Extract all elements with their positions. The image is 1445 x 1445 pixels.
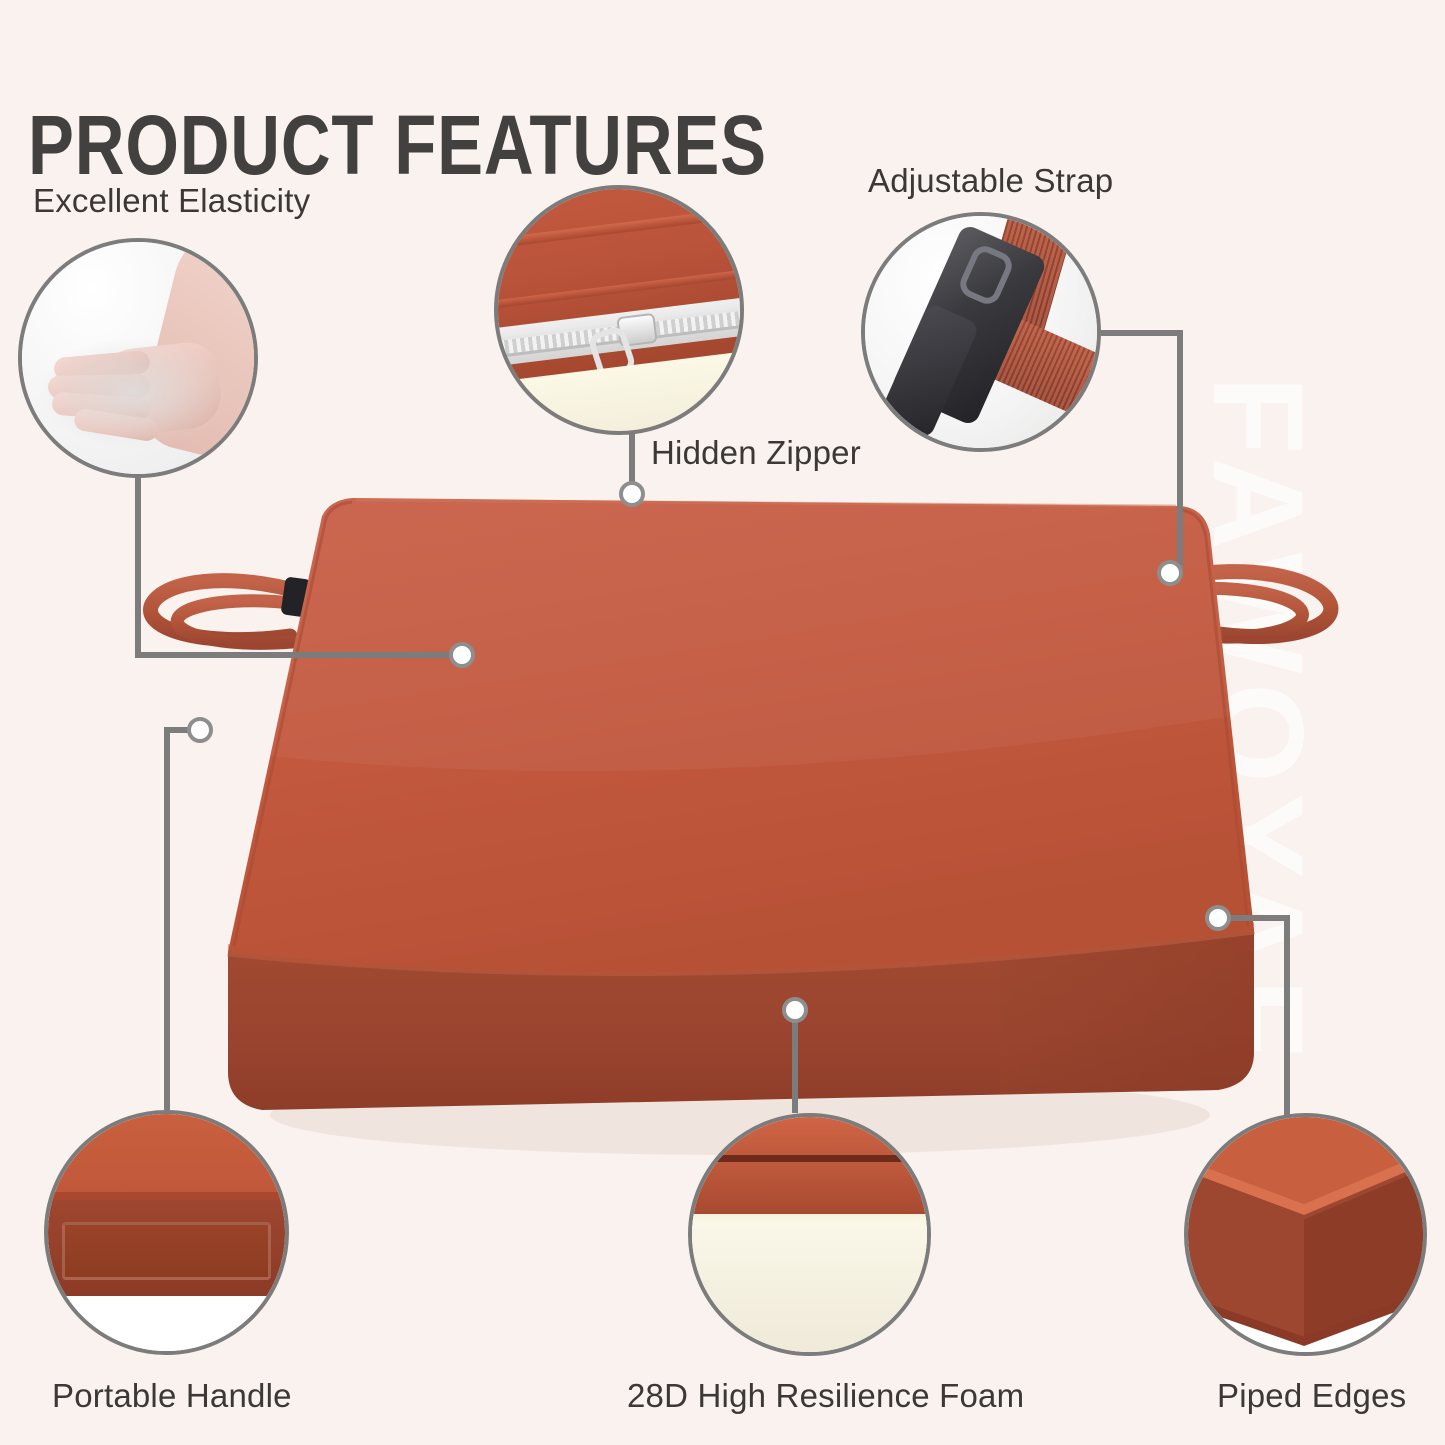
label-hidden-zipper: Hidden Zipper (651, 434, 861, 472)
wire-adjustable-strap (1101, 333, 1180, 573)
label-piped-edges: Piped Edges (1217, 1377, 1406, 1415)
page-title: PRODUCT FEATURES (28, 103, 767, 187)
marker-foam (784, 999, 806, 1021)
callout-portable-handle (44, 1110, 289, 1355)
wire-portable-handle (167, 730, 200, 1110)
marker-zipper (621, 483, 643, 505)
wire-piped-edges (1224, 918, 1287, 1116)
callout-adjustable-strap (861, 212, 1101, 452)
handle-closeup-icon (48, 1114, 285, 1351)
zipper-closeup-icon (498, 189, 740, 431)
cushion-handle-right (1155, 560, 1330, 637)
marker-elasticity (451, 644, 473, 666)
buckle-strap-icon (865, 216, 1097, 448)
wire-excellent-elasticity (138, 476, 455, 655)
callout-high-resilience-foam (688, 1113, 931, 1356)
infographic-canvas: FAWOYAF PRODUCT FEATURES (0, 0, 1445, 1445)
piped-corner-icon (1188, 1117, 1423, 1352)
label-excellent-elasticity: Excellent Elasticity (33, 182, 310, 220)
callout-excellent-elasticity (18, 238, 258, 478)
cushion-handle-left (150, 576, 311, 643)
marker-handle (189, 719, 211, 741)
callout-markers (189, 483, 1229, 1021)
marker-strap (1159, 562, 1181, 584)
hand-pressing-foam-icon (22, 242, 254, 474)
foam-cross-section-icon (692, 1117, 927, 1352)
label-high-resilience-foam: 28D High Resilience Foam (627, 1377, 1024, 1415)
label-portable-handle: Portable Handle (52, 1377, 292, 1415)
callout-piped-edges (1184, 1113, 1427, 1356)
label-adjustable-strap: Adjustable Strap (868, 162, 1113, 200)
brand-watermark: FAWOYAF (1184, 376, 1331, 1067)
callout-hidden-zipper (494, 185, 744, 435)
marker-piping (1207, 907, 1229, 929)
